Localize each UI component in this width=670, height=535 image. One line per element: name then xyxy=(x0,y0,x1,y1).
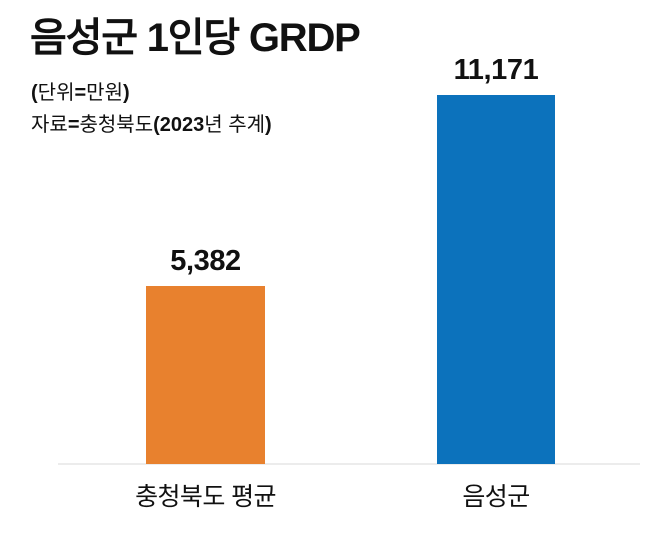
bar-value-label: 5,382 xyxy=(170,245,241,277)
bar-rect[interactable] xyxy=(146,286,265,464)
bar-eumseonggun[interactable] xyxy=(437,95,555,464)
x-tick-label-eumseonggun: 음성군 xyxy=(462,481,529,513)
chart-figure: 음성군 1인당 GRDP (단위=만원) 자료=충청북도(2023년 추계) 5… xyxy=(0,0,670,535)
bar-column-chungcheongbukdo: 5,382 충청북도 평균 xyxy=(146,0,265,535)
x-tick-label-chungcheongbukdo: 충청북도 평균 xyxy=(135,481,276,513)
bar-value-label: 11,171 xyxy=(454,54,539,86)
bar-rect[interactable] xyxy=(437,95,555,464)
bar-chungcheongbukdo[interactable] xyxy=(146,286,265,464)
bar-column-eumseonggun: 11,171 음성군 xyxy=(437,0,555,535)
plot-area: 5,382 충청북도 평균 11,171 음성군 xyxy=(0,0,670,535)
